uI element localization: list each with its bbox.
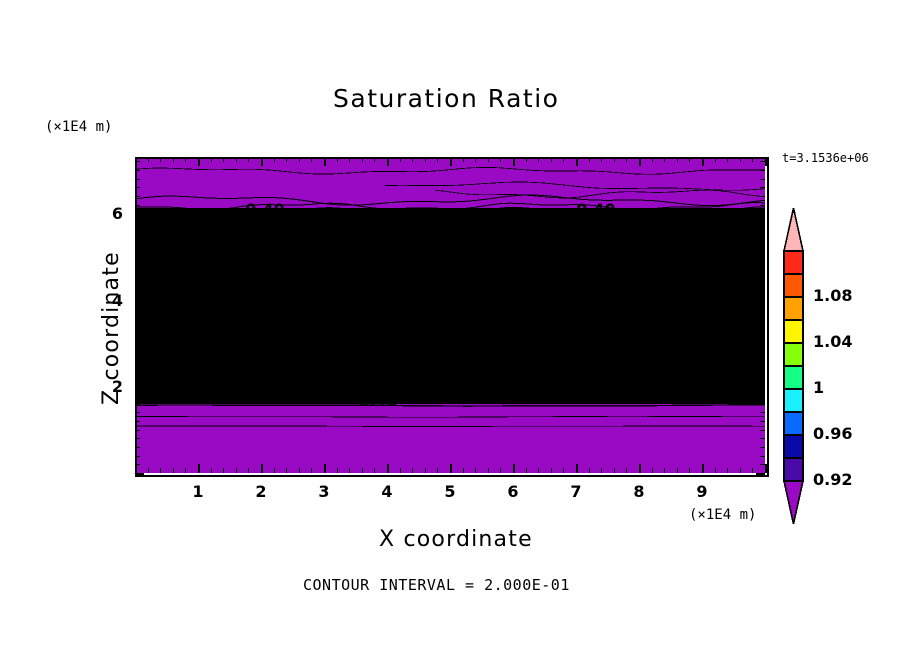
colorbar-tick-label: 0.92 bbox=[813, 470, 852, 489]
colorbar-tick-label: 1.04 bbox=[813, 332, 852, 351]
colorbar-tick-label: 1.08 bbox=[813, 286, 852, 305]
colorbar-tick-label: 0.96 bbox=[813, 424, 852, 443]
colorbar-label-layer: 1.081.0410.960.92 bbox=[0, 0, 904, 654]
colorbar-tick-label: 1 bbox=[813, 378, 824, 397]
figure-canvas: Saturation Ratio (×1E4 m) t=3.1536e+06 Z… bbox=[0, 0, 904, 654]
